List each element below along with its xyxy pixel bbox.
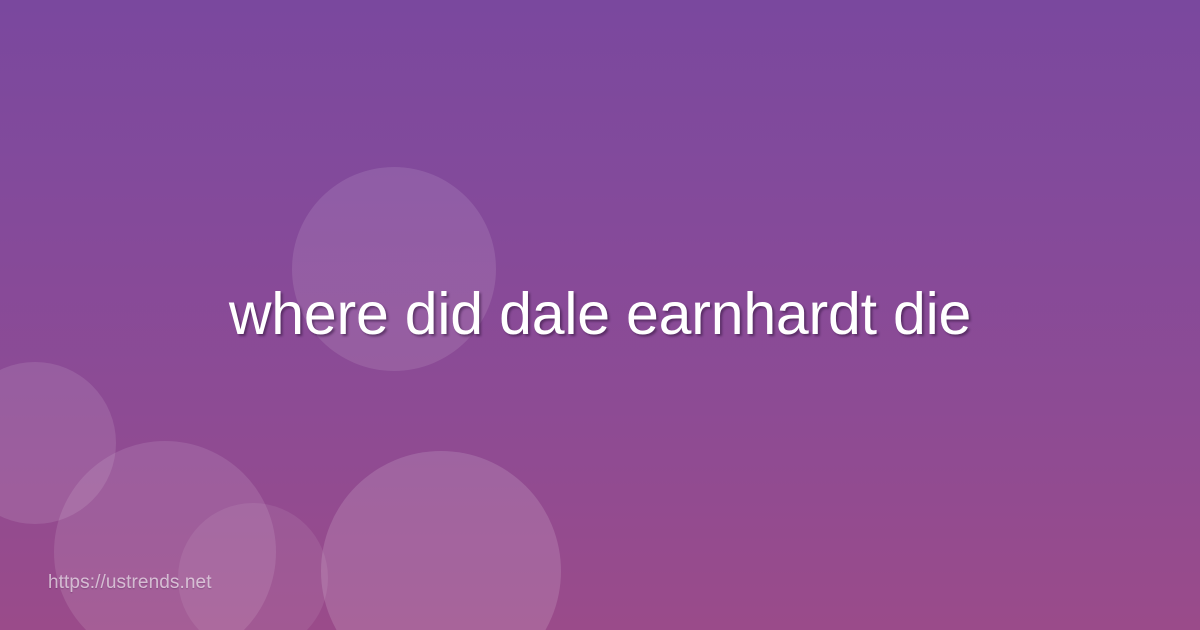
page-title: where did dale earnhardt die: [229, 280, 971, 350]
site-url-label: https://ustrends.net: [48, 572, 212, 594]
headline-container: where did dale earnhardt die: [0, 0, 1200, 630]
share-card: where did dale earnhardt die https://ust…: [0, 0, 1200, 630]
